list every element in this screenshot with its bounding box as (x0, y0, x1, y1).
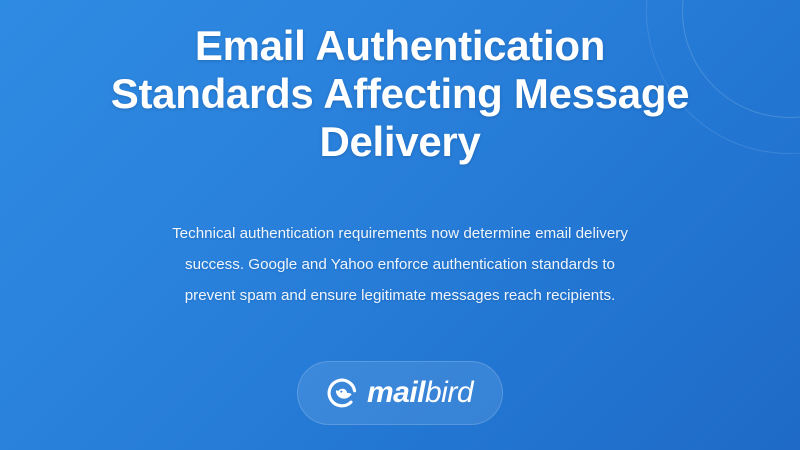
page-title-line-3: Delivery (70, 118, 730, 166)
page-subtitle-line-1: Technical authentication requirements no… (100, 218, 700, 249)
page-title: Email Authentication Standards Affecting… (70, 0, 730, 166)
wordmark-bird: bird (425, 376, 473, 409)
slide-canvas: Email Authentication Standards Affecting… (0, 0, 800, 450)
mailbird-logo-icon (327, 378, 358, 409)
slide-content: Email Authentication Standards Affecting… (0, 0, 800, 450)
page-title-line-2: Standards Affecting Message (70, 70, 730, 118)
mailbird-wordmark: mailbird (367, 378, 473, 408)
page-subtitle-line-2: success. Google and Yahoo enforce authen… (100, 249, 700, 280)
page-title-line-1: Email Authentication (70, 22, 730, 70)
page-subtitle-line-3: prevent spam and ensure legitimate messa… (100, 280, 700, 311)
wordmark-mail: mail (367, 376, 425, 409)
page-subtitle: Technical authentication requirements no… (100, 166, 700, 311)
mailbird-brand-badge[interactable]: mailbird (297, 361, 503, 425)
brand-badge-container: mailbird (0, 311, 800, 425)
